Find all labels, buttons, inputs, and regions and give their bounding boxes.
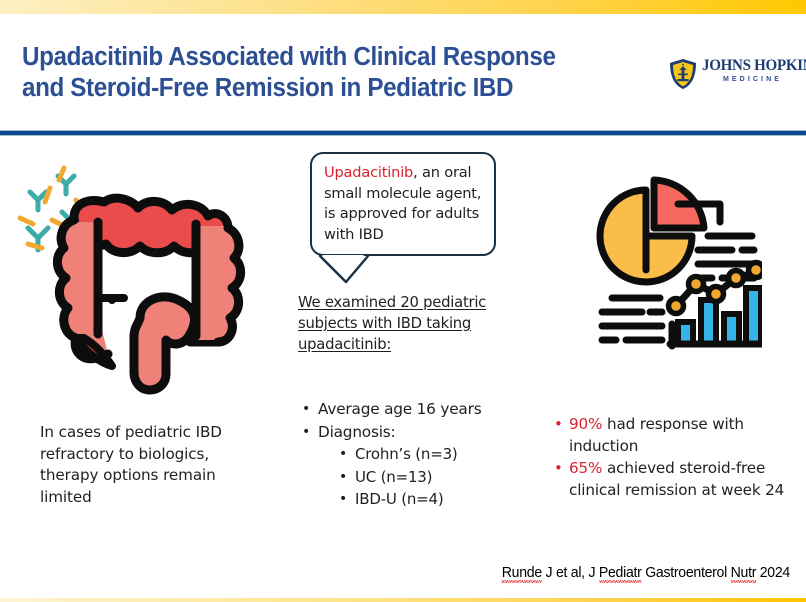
- list-item-label: Average age 16 years: [318, 398, 481, 421]
- bottom-accent-bar: [0, 598, 806, 602]
- result-label: achieved steroid-free clinical remission…: [569, 459, 784, 499]
- speech-bubble-box: Upadacitinib, an oral small molecule age…: [310, 152, 496, 256]
- bullet-dot: •: [302, 421, 318, 444]
- sigmoid-colon: [134, 297, 194, 390]
- list-item-label: UC (n=13): [355, 466, 432, 489]
- list-item-label: IBD-U (n=4): [355, 488, 444, 511]
- list-item: • IBD-U (n=4): [302, 488, 522, 511]
- bullet-dot: •: [554, 414, 569, 436]
- citation-part-1: J et al, J: [542, 564, 599, 581]
- header-divider: [0, 130, 806, 136]
- bullet-dot: •: [339, 466, 355, 489]
- study-heading: We examined 20 pediatric subjects with I…: [298, 292, 520, 355]
- list-item: • Crohn’s (n=3): [302, 443, 522, 466]
- colon-illustration: [12, 158, 262, 398]
- result-text: 90% had response with induction: [569, 414, 802, 457]
- top-accent-bar: [0, 0, 806, 14]
- text-lines-lower: [602, 298, 662, 340]
- slide-root: Upadacitinib Associated with Clinical Re…: [0, 0, 806, 602]
- list-item-label: Crohn’s (n=3): [355, 443, 458, 466]
- logo-subtitle: MEDICINE: [702, 76, 800, 83]
- list-item: • UC (n=13): [302, 466, 522, 489]
- citation-journal-abbr-2: Nutr: [731, 564, 757, 583]
- study-bullet-list: • Average age 16 years • Diagnosis: • Cr…: [302, 398, 522, 511]
- list-item: • 65% achieved steroid-free clinical rem…: [554, 458, 802, 501]
- speech-bubble: Upadacitinib, an oral small molecule age…: [310, 152, 506, 282]
- result-percent: 90%: [569, 415, 602, 433]
- results-list: • 90% had response with induction • 65% …: [554, 414, 802, 502]
- slide-body: In cases of pediatric IBD refractory to …: [0, 140, 806, 560]
- result-text: 65% achieved steroid-free clinical remis…: [569, 458, 802, 501]
- logo-wordmark: JOHNS HOPKINS MEDICINE: [702, 57, 800, 83]
- drug-name: Upadacitinib: [324, 164, 413, 181]
- citation: Runde J et al, J Pediatr Gastroenterol N…: [47, 564, 790, 581]
- citation-year: 2024: [756, 564, 790, 581]
- list-item: • 90% had response with induction: [554, 414, 802, 457]
- slide-header: Upadacitinib Associated with Clinical Re…: [0, 14, 806, 132]
- left-caption: In cases of pediatric IBD refractory to …: [40, 422, 270, 508]
- bullet-dot: •: [339, 488, 355, 511]
- bullet-dot: •: [302, 398, 318, 421]
- johns-hopkins-logo: JOHNS HOPKINS MEDICINE: [668, 56, 800, 96]
- speech-bubble-text: Upadacitinib, an oral small molecule age…: [324, 163, 483, 245]
- bullet-dot: •: [339, 443, 355, 466]
- list-item: • Average age 16 years: [302, 398, 522, 421]
- page-title: Upadacitinib Associated with Clinical Re…: [22, 42, 621, 104]
- result-percent: 65%: [569, 459, 602, 477]
- citation-journal-abbr-1: Pediatr: [599, 564, 642, 583]
- study-heading-text: We examined 20 pediatric subjects with I…: [298, 294, 486, 353]
- appendix: [98, 298, 124, 300]
- citation-part-2: Gastroenterol: [642, 564, 731, 581]
- analytics-chart-icon: [586, 166, 762, 352]
- shield-icon: [668, 58, 698, 90]
- list-item-label: Diagnosis:: [318, 421, 396, 444]
- citation-author: Runde: [502, 564, 542, 583]
- bullet-dot: •: [554, 458, 569, 480]
- speech-bubble-tail: [318, 253, 428, 287]
- list-item: • Diagnosis:: [302, 421, 522, 444]
- logo-name: JOHNS HOPKINS: [702, 57, 797, 74]
